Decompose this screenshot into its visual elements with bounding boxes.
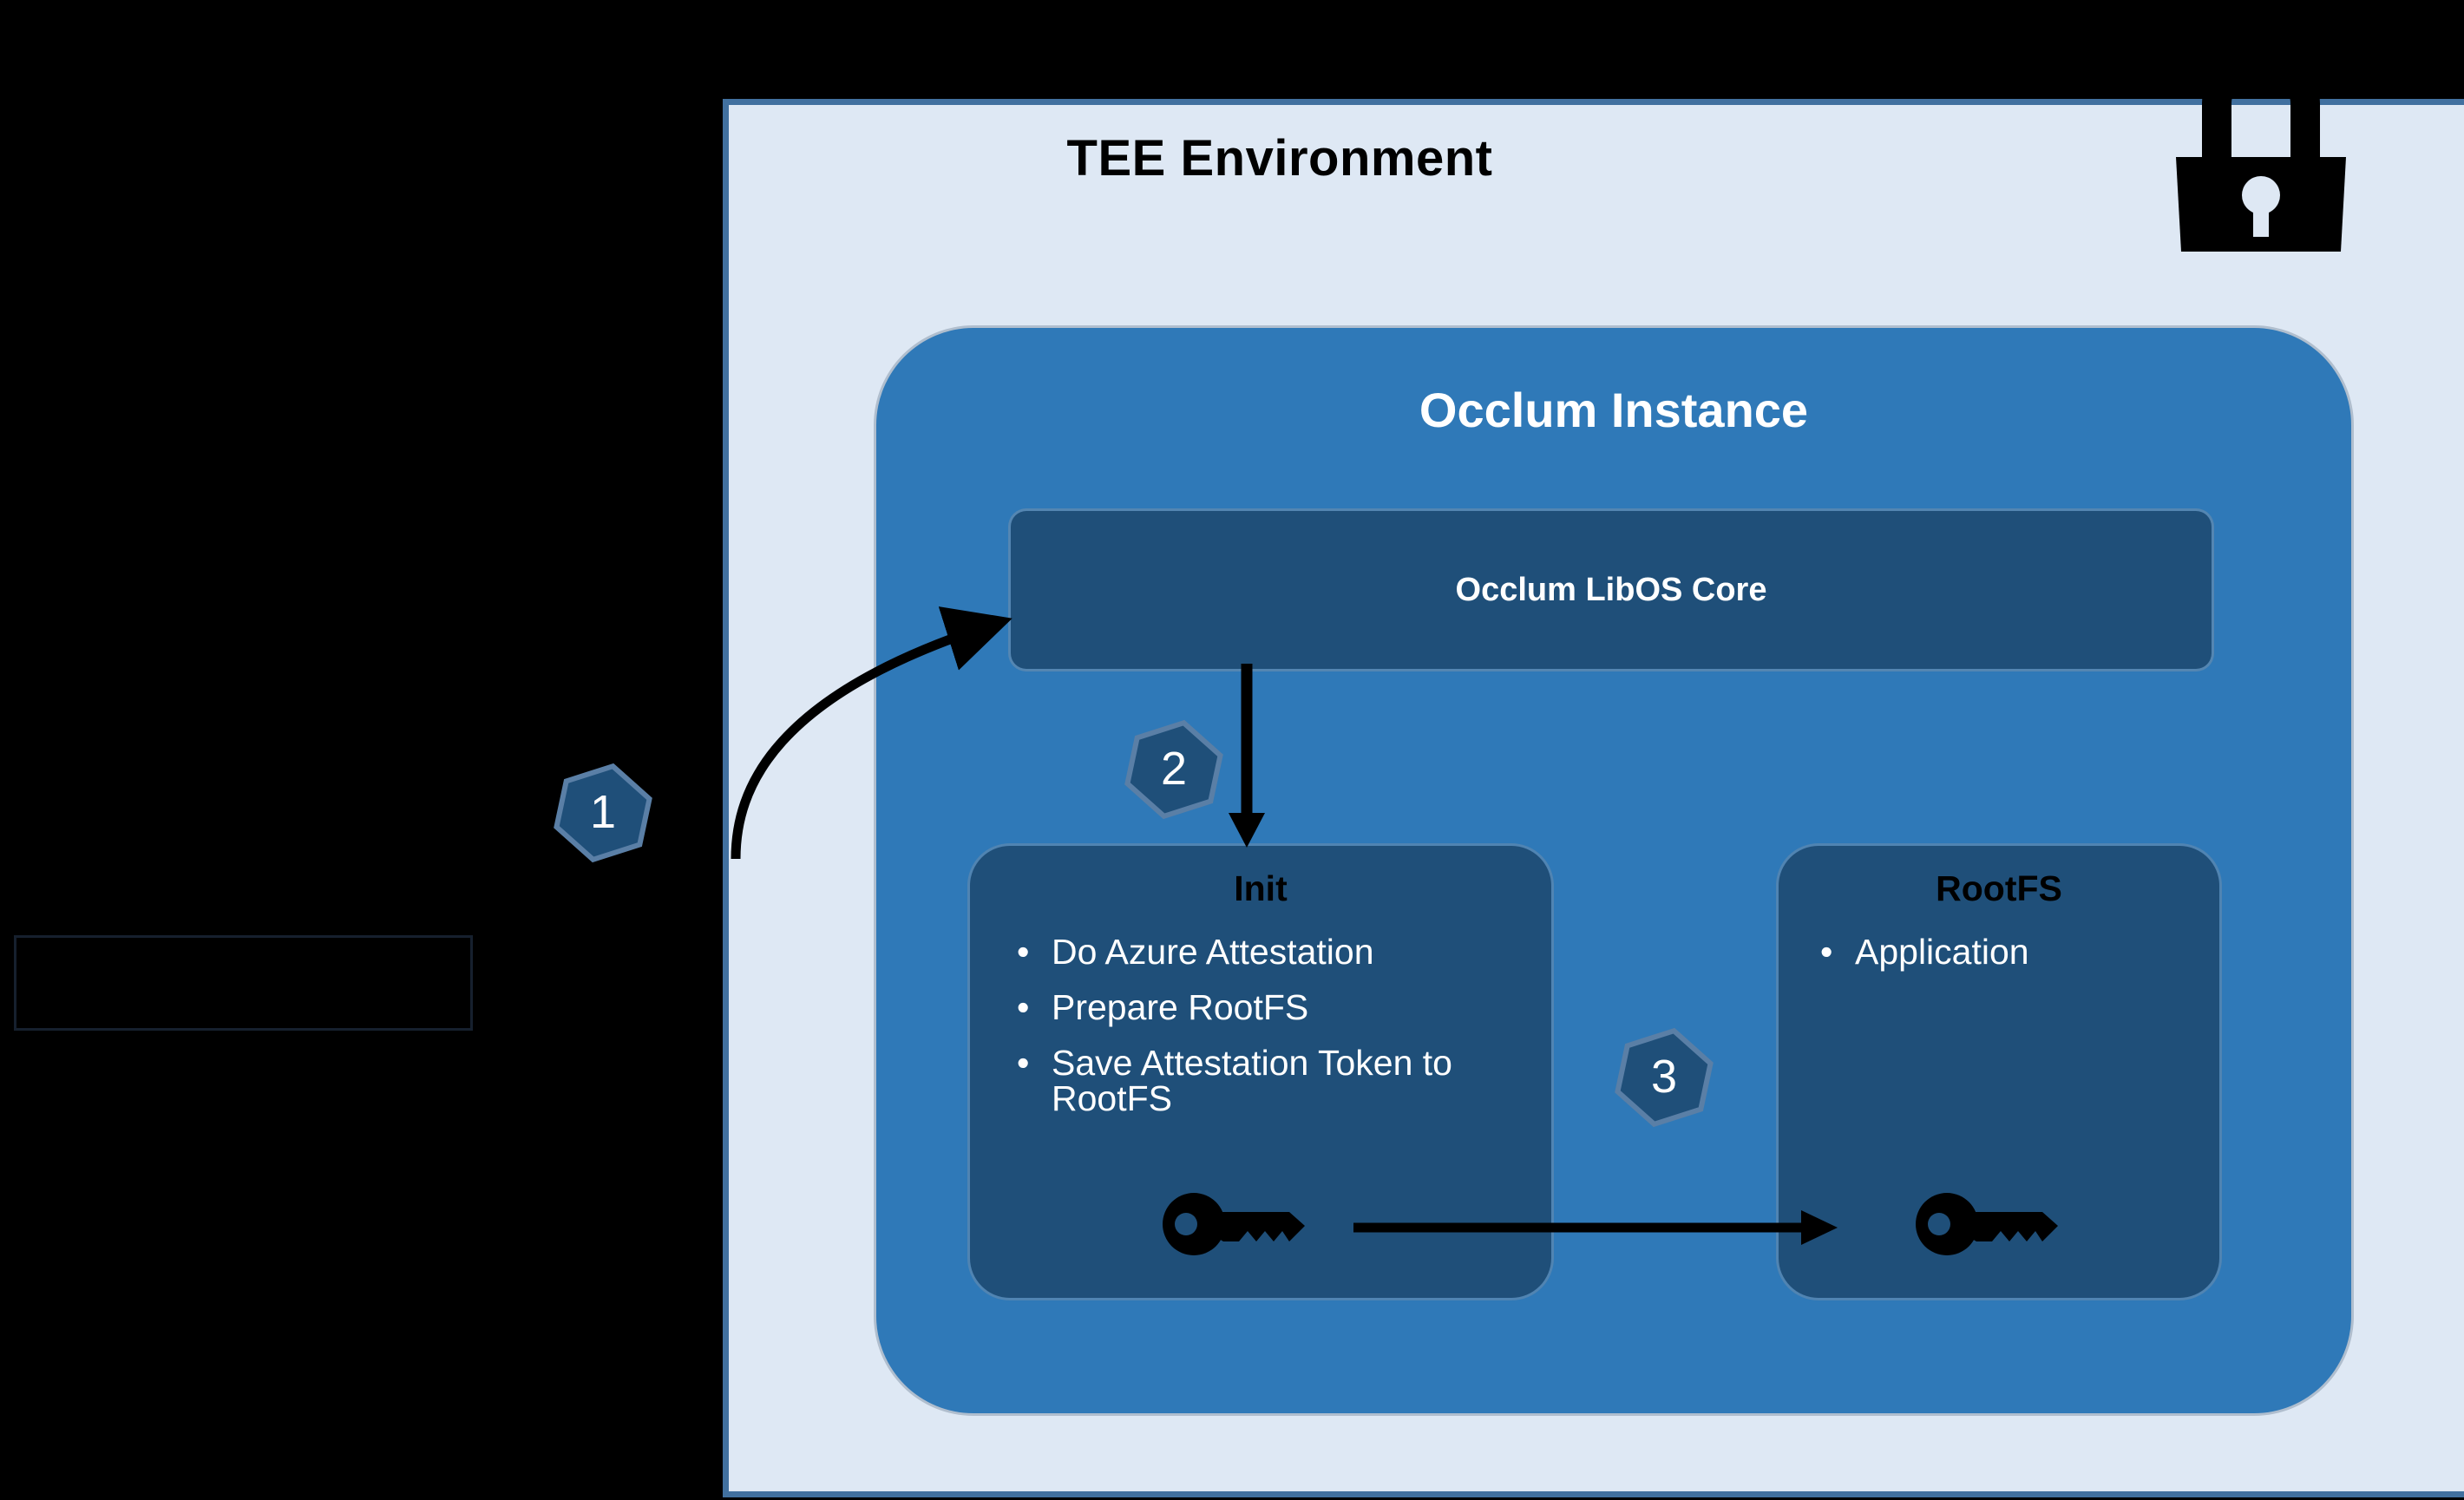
step-badge-1-label-wrap: 1 [551,762,655,864]
key-icon [1163,1193,1312,1255]
list-item: • Save Attestation Token to RootFS [1001,1045,1522,1117]
step-number: 2 [1122,718,1226,821]
rootfs-bullet-list: • Application [1805,934,2195,970]
step-badge-3-label-wrap: 3 [1612,1026,1716,1129]
curved-arrow-into-libos-icon [711,573,1024,859]
occlum-libos-core-label: Occlum LibOS Core [1011,511,2212,669]
step-badge-2-label-wrap: 2 [1122,718,1226,821]
step-number: 3 [1612,1026,1716,1129]
bullet-dot-icon: • [1820,934,1832,970]
down-arrow-libos-to-init-icon [1215,664,1310,850]
list-item: • Application [1805,934,2195,970]
bullet-dot-icon: • [1017,990,1029,1025]
init-bullet-text: Save Attestation Token to RootFS [1052,1043,1452,1118]
occlum-libos-core-box: Occlum LibOS Core [1011,511,2212,669]
padlock-icon [2169,74,2353,256]
bullet-dot-icon: • [1017,934,1029,970]
rootfs-bullet-text: Application [1855,932,2029,972]
left-placeholder-box [14,935,473,1031]
step-number: 1 [551,762,655,864]
list-item: • Prepare RootFS [1001,990,1522,1025]
bullet-dot-icon: • [1017,1045,1029,1081]
rootfs-title: RootFS [1779,868,2219,909]
list-item: • Do Azure Attestation [1001,934,1522,970]
init-bullet-list: • Do Azure Attestation • Prepare RootFS … [1001,934,1522,1136]
init-bullet-text: Do Azure Attestation [1052,932,1374,972]
key-icon [1916,1193,2065,1255]
diagram-canvas: TEE Environment Occlum Instance Occlum L… [0,0,2464,1500]
right-arrow-init-to-rootfs-icon [1353,1206,1839,1249]
init-title: Init [970,868,1551,909]
init-bullet-text: Prepare RootFS [1052,987,1308,1027]
tee-environment-title: TEE Environment [729,129,1831,187]
occlum-instance-title: Occlum Instance [876,382,2351,438]
